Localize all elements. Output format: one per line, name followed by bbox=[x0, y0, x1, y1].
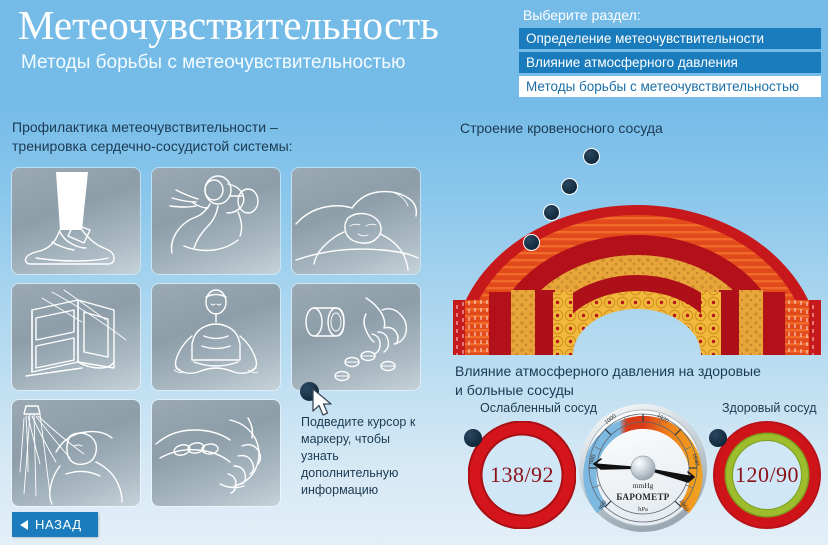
back-button[interactable]: НАЗАД bbox=[12, 512, 98, 537]
prevention-lead: Профилактика метеочувствительности – тре… bbox=[12, 118, 293, 156]
menu-item-definition[interactable]: Определение метеочувствительности bbox=[519, 28, 821, 49]
page-subtitle: Методы борьбы с метеочувствительностью bbox=[21, 52, 405, 74]
prevention-lead-line2: тренировка сердечно-сосудистой системы: bbox=[12, 137, 293, 156]
weak-vessel-marker[interactable] bbox=[464, 429, 482, 447]
presentation-slide: Метеочувствительность Методы борьбы с ме… bbox=[0, 0, 828, 545]
tile-dumbbell-arm[interactable] bbox=[152, 168, 280, 274]
dumbbell-arm-icon bbox=[152, 168, 280, 274]
menu-item-pressure-influence[interactable]: Влияние атмосферного давления bbox=[519, 52, 821, 73]
barometer-dial bbox=[578, 398, 708, 544]
weak-vessel-gauge: 138/92 bbox=[468, 421, 576, 529]
prevention-lead-line1: Профилактика метеочувствительности – bbox=[12, 118, 293, 137]
vessel-cross-section-diagram bbox=[447, 140, 828, 355]
vessel-structure-title: Строение кровеносного сосуда bbox=[460, 119, 663, 138]
pressure-title-line1: Влияние атмосферного давления на здоровы… bbox=[455, 362, 761, 381]
tile-shower[interactable] bbox=[12, 400, 140, 506]
vessel-marker-3[interactable] bbox=[543, 204, 560, 221]
barometer-gauge: mmHg БАРОМЕТР hPa 960 980 1000 1020 1040… bbox=[578, 398, 708, 544]
barometer-name: БАРОМЕТР bbox=[578, 492, 708, 502]
vessel-marker-2[interactable] bbox=[561, 178, 578, 195]
yoga-meditation-icon bbox=[152, 284, 280, 390]
menu-item-coping-methods[interactable]: Методы борьбы с метеочувствительностью bbox=[519, 76, 821, 97]
weak-vessel-value: 138/92 bbox=[468, 421, 576, 529]
massage-icon bbox=[152, 400, 280, 506]
vessel-marker-4[interactable] bbox=[523, 234, 540, 251]
tile-open-window[interactable] bbox=[12, 284, 140, 390]
healthy-vessel-value: 120/90 bbox=[713, 421, 821, 529]
pills-bottle-icon bbox=[292, 284, 420, 390]
open-window-icon bbox=[12, 284, 140, 390]
pressure-influence-title: Влияние атмосферного давления на здоровы… bbox=[455, 362, 761, 400]
vessel-illustration bbox=[447, 140, 828, 355]
tile-sleeping-person[interactable] bbox=[292, 168, 420, 274]
vessel-marker-1[interactable] bbox=[583, 148, 600, 165]
tile-walking-shoe[interactable] bbox=[12, 168, 140, 274]
healthy-vessel-label: Здоровый сосуд bbox=[722, 401, 817, 415]
back-arrow-icon bbox=[20, 520, 28, 530]
menu-caption: Выберите раздел: bbox=[519, 7, 821, 23]
healthy-vessel-gauge: 120/90 bbox=[713, 421, 821, 529]
shower-icon bbox=[12, 400, 140, 506]
section-menu: Выберите раздел: Определение метеочувств… bbox=[519, 7, 821, 100]
back-button-label: НАЗАД bbox=[35, 517, 82, 532]
hint-text: Подведите курсор к маркеру, чтобы узнать… bbox=[301, 414, 429, 499]
tile-massage[interactable] bbox=[152, 400, 280, 506]
healthy-vessel-marker[interactable] bbox=[709, 429, 727, 447]
page-title: Метеочувствительность bbox=[18, 2, 439, 49]
sleeping-person-icon bbox=[292, 168, 420, 274]
tile-yoga-meditation[interactable] bbox=[152, 284, 280, 390]
walking-shoe-icon bbox=[12, 168, 140, 274]
tile-pills-bottle[interactable] bbox=[292, 284, 420, 390]
barometer-unit-top: mmHg bbox=[578, 481, 708, 490]
